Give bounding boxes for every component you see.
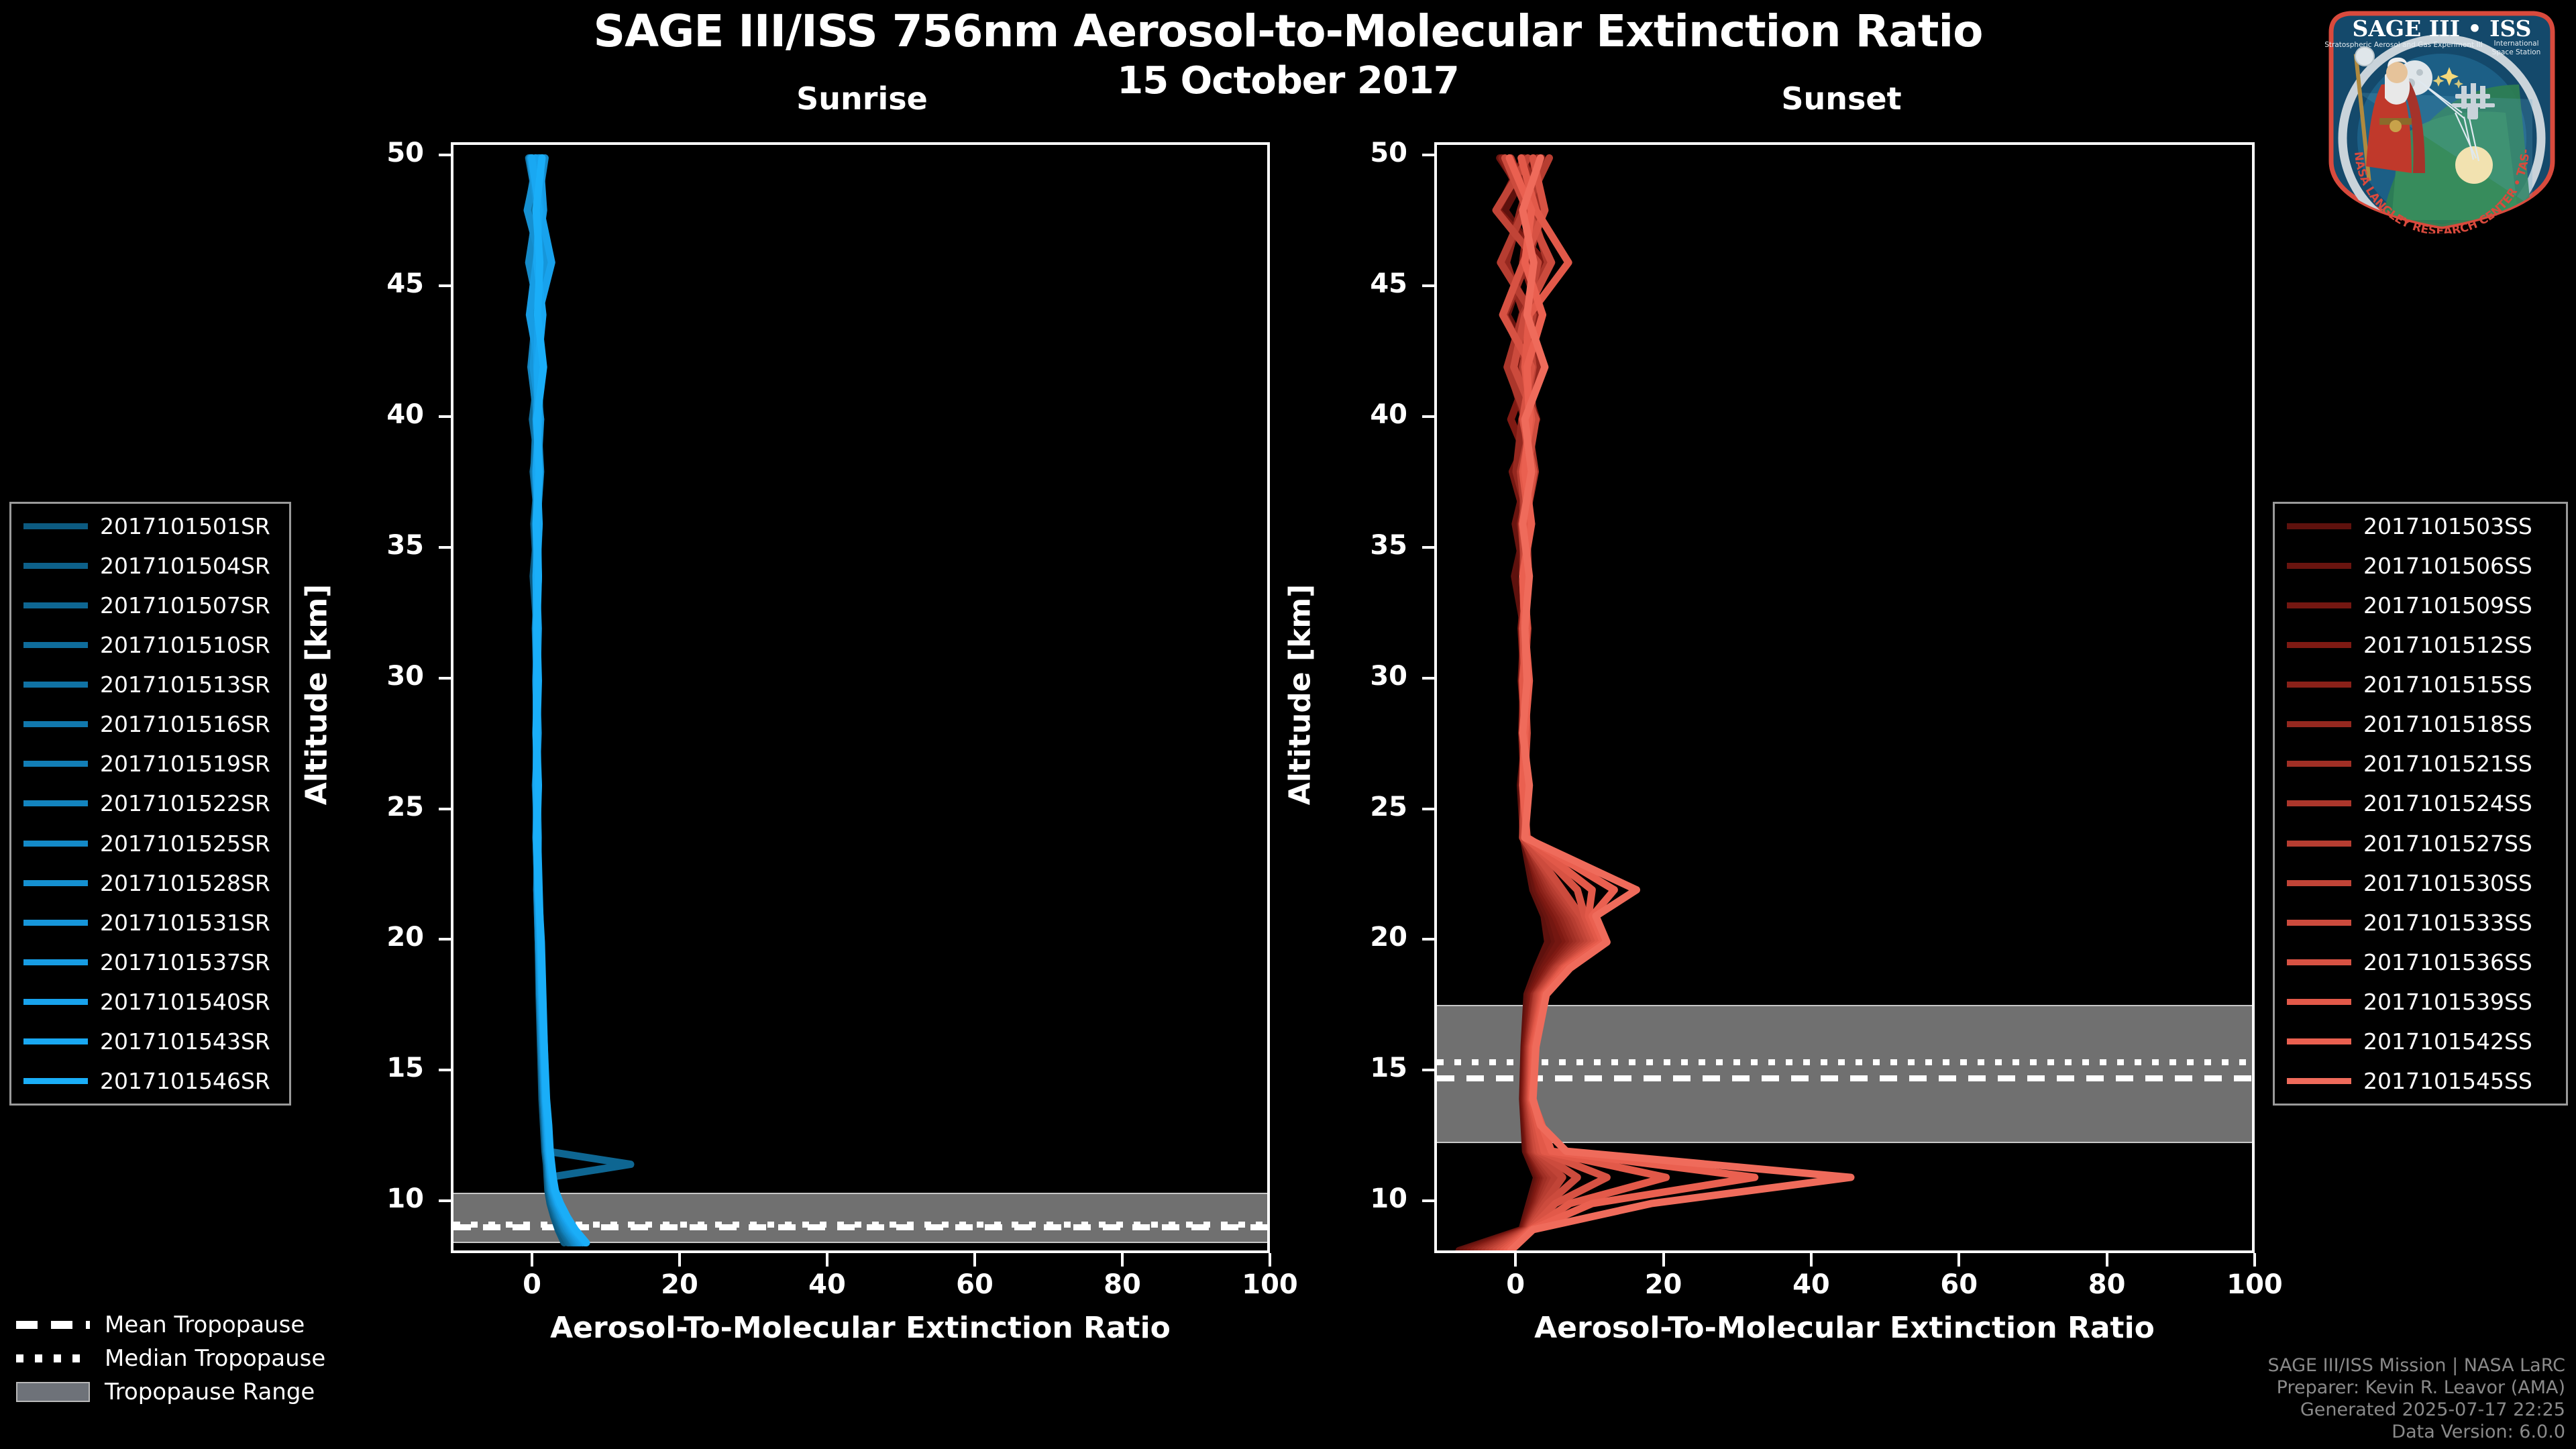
legend-color-swatch	[2287, 800, 2351, 806]
x-tick-label: 80	[1069, 1269, 1176, 1300]
x-tick-mark	[531, 1253, 533, 1267]
title-date: 15 October 2017	[0, 59, 2576, 103]
legend-item[interactable]: 2017101518SS	[2287, 712, 2554, 737]
panel-subtitle-sunrise: Sunrise	[728, 80, 996, 117]
x-tick-mark	[1662, 1253, 1665, 1267]
legend-color-swatch	[23, 880, 88, 886]
legend-color-swatch	[2287, 880, 2351, 886]
y-tick-mark	[439, 677, 451, 680]
page-title: SAGE III/ISS 756nm Aerosol-to-Molecular …	[0, 5, 2576, 57]
x-tick-label: 20	[1610, 1269, 1717, 1300]
y-tick-mark	[439, 154, 451, 156]
legend-item[interactable]: 2017101513SR	[23, 672, 277, 698]
legend-color-swatch	[23, 1078, 88, 1084]
legend-color-swatch	[23, 563, 88, 569]
legend-item[interactable]: 2017101506SS	[2287, 553, 2554, 578]
legend-item-label: 2017101509SS	[2363, 592, 2532, 619]
legend-item[interactable]: 2017101512SS	[2287, 632, 2554, 657]
y-tick-mark	[439, 1069, 451, 1071]
legend-item[interactable]: 2017101546SR	[23, 1069, 277, 1094]
legend-item-label: 2017101516SR	[100, 711, 270, 737]
legend-item[interactable]: 2017101533SS	[2287, 910, 2554, 935]
logo-subtitle-left: Stratospheric Aerosol and Gas Experiment…	[2324, 41, 2483, 49]
legend-color-swatch	[2287, 1078, 2351, 1084]
legend-item-label: 2017101533SS	[2363, 910, 2532, 936]
credit-line: Preparer: Kevin R. Leavor (AMA)	[2267, 1377, 2565, 1399]
y-tick-mark	[439, 415, 451, 418]
credit-line: Data Version: 6.0.0	[2267, 1421, 2565, 1444]
legend-color-swatch	[2287, 999, 2351, 1005]
series-line	[1511, 158, 1851, 1251]
y-axis-title: Altitude [km]	[300, 480, 334, 910]
legend-item[interactable]: 2017101501SR	[23, 513, 277, 539]
tropopause-legend-label: Mean Tropopause	[105, 1311, 305, 1338]
series-layer-sunrise	[453, 145, 1270, 1253]
legend-color-swatch	[23, 642, 88, 648]
x-tick-label: 20	[626, 1269, 733, 1300]
legend-item[interactable]: 2017101527SS	[2287, 830, 2554, 856]
legend-color-swatch	[2287, 920, 2351, 926]
legend-color-swatch	[2287, 563, 2351, 569]
legend-color-swatch	[23, 841, 88, 847]
legend-item[interactable]: 2017101540SR	[23, 989, 277, 1015]
y-tick-mark	[1422, 808, 1434, 810]
y-tick-label: 40	[343, 399, 424, 430]
x-tick-mark	[826, 1253, 828, 1267]
x-tick-label: 40	[773, 1269, 881, 1300]
y-tick-mark	[1422, 1199, 1434, 1202]
axes-frame-sunrise	[451, 142, 1270, 1253]
x-axis-title: Aerosol-To-Molecular Extinction Ratio	[1394, 1311, 2295, 1345]
legend-item-label: 2017101530SS	[2363, 870, 2532, 896]
credit-block: SAGE III/ISS Mission | NASA LaRCPreparer…	[2267, 1355, 2565, 1444]
legend-item-label: 2017101545SS	[2363, 1068, 2532, 1094]
legend-item[interactable]: 2017101509SS	[2287, 592, 2554, 618]
legend-item[interactable]: 2017101539SS	[2287, 989, 2554, 1015]
legend-item-label: 2017101524SS	[2363, 790, 2532, 816]
legend-item[interactable]: 2017101545SS	[2287, 1069, 2554, 1094]
y-tick-label: 15	[1327, 1053, 1407, 1083]
x-tick-label: 80	[2053, 1269, 2161, 1300]
x-tick-mark	[1957, 1253, 1960, 1267]
credit-line: SAGE III/ISS Mission | NASA LaRC	[2267, 1355, 2565, 1377]
legend-color-swatch	[2287, 602, 2351, 608]
legend-item-label: 2017101536SS	[2363, 949, 2532, 975]
x-tick-label: 60	[921, 1269, 1028, 1300]
legend-item[interactable]: 2017101515SS	[2287, 672, 2554, 698]
tropopause-legend-item: Mean Tropopause	[16, 1308, 325, 1342]
x-tick-mark	[2106, 1253, 2108, 1267]
tropopause-legend-label: Tropopause Range	[105, 1379, 315, 1405]
legend-item-label: 2017101531SR	[100, 910, 270, 936]
y-tick-label: 50	[343, 138, 424, 168]
tropopause-legend: Mean TropopauseMedian TropopauseTropopau…	[16, 1308, 325, 1409]
legend-sunset[interactable]: 2017101503SS2017101506SS2017101509SS2017…	[2273, 502, 2568, 1106]
x-tick-mark	[2253, 1253, 2256, 1267]
y-tick-label: 10	[1327, 1183, 1407, 1214]
y-tick-mark	[439, 1199, 451, 1202]
y-tick-label: 20	[343, 922, 424, 953]
series-line	[1507, 158, 1755, 1251]
y-tick-label: 45	[1327, 268, 1407, 299]
legend-color-swatch	[2287, 721, 2351, 727]
tropopause-mean-key	[16, 1321, 90, 1329]
legend-color-swatch	[23, 602, 88, 608]
legend-item[interactable]: 2017101531SR	[23, 910, 277, 935]
logo-subtitle-right-1: International	[2493, 40, 2538, 48]
axes-frame-sunset	[1434, 142, 2255, 1253]
y-tick-mark	[1422, 415, 1434, 418]
legend-color-swatch	[2287, 682, 2351, 688]
x-tick-label: 0	[1462, 1269, 1569, 1300]
legend-item[interactable]: 2017101510SR	[23, 632, 277, 657]
sage-iii-iss-logo: SAGE III • ISS Stratospheric Aerosol and…	[2318, 5, 2566, 233]
tropopause-range-key	[16, 1382, 90, 1402]
legend-item-label: 2017101515SS	[2363, 672, 2532, 698]
y-tick-mark	[1422, 1069, 1434, 1071]
legend-item[interactable]: 2017101516SR	[23, 712, 277, 737]
legend-color-swatch	[2287, 1038, 2351, 1044]
x-axis-title: Aerosol-To-Molecular Extinction Ratio	[411, 1311, 1310, 1345]
x-tick-mark	[1121, 1253, 1124, 1267]
legend-item-label: 2017101512SS	[2363, 632, 2532, 658]
series-layer-sunset	[1437, 145, 2255, 1253]
legend-item[interactable]: 2017101521SS	[2287, 751, 2554, 777]
legend-item-label: 2017101510SR	[100, 632, 270, 658]
y-tick-mark	[1422, 284, 1434, 287]
legend-item-label: 2017101501SR	[100, 513, 270, 539]
y-tick-label: 20	[1327, 922, 1407, 953]
y-axis-title: Altitude [km]	[1283, 480, 1318, 910]
legend-item[interactable]: 2017101525SR	[23, 830, 277, 856]
legend-item[interactable]: 2017101537SR	[23, 950, 277, 975]
legend-item-label: 2017101527SS	[2363, 830, 2532, 857]
legend-sunrise[interactable]: 2017101501SR2017101504SR2017101507SR2017…	[9, 502, 291, 1106]
legend-item-label: 2017101542SS	[2363, 1028, 2532, 1055]
legend-color-swatch	[23, 721, 88, 727]
y-tick-mark	[439, 284, 451, 287]
series-line	[1500, 158, 1607, 1251]
y-tick-mark	[439, 546, 451, 549]
y-tick-mark	[1422, 677, 1434, 680]
y-tick-label: 25	[343, 792, 424, 822]
y-tick-label: 10	[343, 1183, 424, 1214]
x-tick-mark	[678, 1253, 681, 1267]
legend-color-swatch	[23, 920, 88, 926]
y-tick-mark	[1422, 938, 1434, 941]
legend-item-label: 2017101525SR	[100, 830, 270, 857]
x-tick-label: 60	[1905, 1269, 2012, 1300]
legend-item-label: 2017101504SR	[100, 553, 270, 579]
legend-item[interactable]: 2017101543SR	[23, 1029, 277, 1055]
x-tick-label: 40	[1758, 1269, 1865, 1300]
legend-item-label: 2017101506SS	[2363, 553, 2532, 579]
x-tick-mark	[973, 1253, 976, 1267]
y-tick-mark	[439, 808, 451, 810]
logo-title: SAGE III • ISS	[2352, 15, 2531, 42]
legend-color-swatch	[23, 761, 88, 767]
legend-color-swatch	[23, 682, 88, 688]
y-tick-label: 30	[1327, 661, 1407, 692]
x-tick-mark	[1269, 1253, 1271, 1267]
legend-item[interactable]: 2017101528SR	[23, 870, 277, 896]
x-tick-mark	[1810, 1253, 1813, 1267]
legend-color-swatch	[23, 959, 88, 965]
legend-color-swatch	[23, 999, 88, 1005]
legend-color-swatch	[2287, 841, 2351, 847]
credit-line: Generated 2025-07-17 22:25	[2267, 1399, 2565, 1421]
y-tick-mark	[1422, 546, 1434, 549]
legend-item[interactable]: 2017101536SS	[2287, 950, 2554, 975]
legend-item[interactable]: 2017101522SR	[23, 791, 277, 816]
y-tick-mark	[1422, 154, 1434, 156]
legend-item[interactable]: 2017101524SS	[2287, 791, 2554, 816]
legend-item[interactable]: 2017101504SR	[23, 553, 277, 578]
x-tick-label: 100	[2201, 1269, 2308, 1300]
tropopause-median-key	[16, 1354, 90, 1362]
legend-item-label: 2017101519SR	[100, 751, 270, 777]
y-tick-label: 50	[1327, 138, 1407, 168]
legend-item-label: 2017101539SS	[2363, 989, 2532, 1015]
legend-item[interactable]: 2017101507SR	[23, 592, 277, 618]
panel-subtitle-sunset: Sunset	[1707, 80, 1976, 117]
legend-item[interactable]: 2017101519SR	[23, 751, 277, 777]
x-tick-mark	[1514, 1253, 1517, 1267]
mission-patch-svg: SAGE III • ISS Stratospheric Aerosol and…	[2318, 5, 2566, 233]
legend-item-label: 2017101540SR	[100, 989, 270, 1015]
legend-color-swatch	[2287, 761, 2351, 767]
legend-item-label: 2017101518SS	[2363, 711, 2532, 737]
tropopause-legend-item: Tropopause Range	[16, 1375, 325, 1409]
tropopause-legend-item: Median Tropopause	[16, 1342, 325, 1375]
y-tick-label: 15	[343, 1053, 424, 1083]
y-tick-mark	[439, 938, 451, 941]
legend-item-label: 2017101543SR	[100, 1028, 270, 1055]
legend-color-swatch	[23, 523, 88, 529]
tropopause-legend-label: Median Tropopause	[105, 1345, 325, 1372]
legend-item[interactable]: 2017101542SS	[2287, 1029, 2554, 1055]
legend-item[interactable]: 2017101503SS	[2287, 513, 2554, 539]
legend-item-label: 2017101521SS	[2363, 751, 2532, 777]
legend-item-label: 2017101528SR	[100, 870, 270, 896]
legend-item-label: 2017101537SR	[100, 949, 270, 975]
legend-color-swatch	[2287, 642, 2351, 648]
logo-subtitle-right-2: Space Station	[2492, 48, 2541, 56]
y-tick-label: 45	[343, 268, 424, 299]
x-tick-label: 0	[478, 1269, 586, 1300]
y-tick-label: 30	[343, 661, 424, 692]
y-tick-label: 35	[1327, 530, 1407, 561]
legend-item-label: 2017101546SR	[100, 1068, 270, 1094]
y-tick-label: 40	[1327, 399, 1407, 430]
y-tick-label: 25	[1327, 792, 1407, 822]
legend-item[interactable]: 2017101530SS	[2287, 870, 2554, 896]
legend-item-label: 2017101513SR	[100, 672, 270, 698]
legend-item-label: 2017101522SR	[100, 790, 270, 816]
legend-color-swatch	[23, 800, 88, 806]
legend-color-swatch	[2287, 959, 2351, 965]
legend-item-label: 2017101503SS	[2363, 513, 2532, 539]
legend-item-label: 2017101507SR	[100, 592, 270, 619]
x-tick-label: 100	[1216, 1269, 1324, 1300]
y-tick-label: 35	[343, 530, 424, 561]
legend-color-swatch	[2287, 523, 2351, 529]
legend-color-swatch	[23, 1038, 88, 1044]
